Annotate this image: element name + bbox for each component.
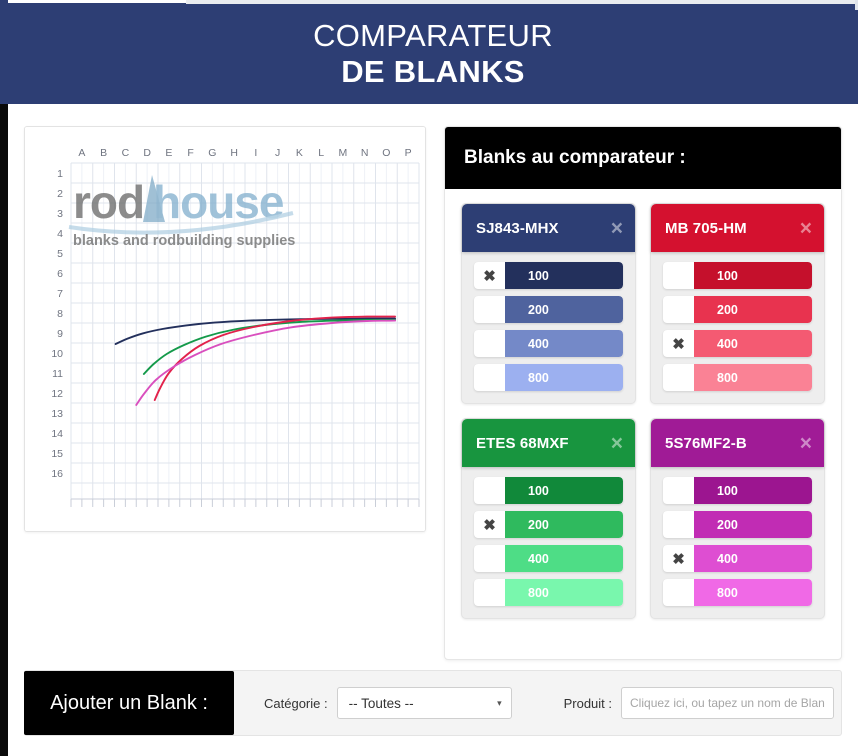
produit-field-group: Produit : (564, 687, 834, 719)
weight-row[interactable]: 100 (663, 477, 812, 504)
produit-label: Produit : (564, 696, 612, 711)
chart-y-tick-label: 14 (51, 428, 63, 440)
blank-card-title: SJ843-MHX (476, 220, 559, 237)
add-blank-label: Ajouter un Blank : (24, 671, 234, 735)
svg-text:rod: rod (73, 176, 144, 228)
weight-label: 200 (694, 511, 812, 538)
weight-label: 100 (505, 477, 623, 504)
close-icon[interactable]: × (800, 218, 812, 239)
checkbox-unchecked-icon[interactable] (474, 364, 505, 391)
weight-label: 400 (505, 330, 623, 357)
blank-cards-grid: SJ843-MHX×✖100200400800MB 705-HM×100200✖… (445, 189, 841, 635)
weight-row[interactable]: 200 (663, 511, 812, 538)
categorie-label: Catégorie : (264, 696, 328, 711)
blank-card-title: 5S76MF2-B (665, 435, 747, 452)
chart-y-tick-label: 15 (51, 448, 63, 460)
checkbox-unchecked-icon[interactable] (474, 330, 505, 357)
chart-x-tick-label: L (318, 147, 324, 159)
chart-x-tick-label: G (208, 147, 216, 159)
blank-card-header: SJ843-MHX× (462, 204, 635, 252)
chart-x-tick-label: B (100, 147, 107, 159)
weight-row[interactable]: 800 (474, 364, 623, 391)
svg-text:blanks and rodbuilding supplie: blanks and rodbuilding supplies (73, 233, 295, 249)
chart-x-tick-label: E (165, 147, 172, 159)
chart-y-tick-label: 5 (57, 248, 63, 260)
page-top-hairline (186, 0, 858, 4)
checkbox-checked-icon[interactable]: ✖ (474, 511, 505, 538)
weight-row[interactable]: 400 (474, 545, 623, 572)
chart-y-tick-label: 8 (57, 308, 63, 320)
weight-row[interactable]: 400 (474, 330, 623, 357)
checkbox-unchecked-icon[interactable] (474, 545, 505, 572)
chart-y-tick-label: 2 (57, 188, 63, 200)
comparator-header-title: Blanks au comparateur : (464, 147, 686, 169)
weight-label: 100 (505, 262, 623, 289)
weight-row[interactable]: ✖100 (474, 262, 623, 289)
chart-x-tick-label: H (230, 147, 238, 159)
weight-label: 200 (694, 296, 812, 323)
weight-row[interactable]: 800 (663, 364, 812, 391)
weight-list: 100200✖400800 (651, 467, 824, 618)
blank-card: MB 705-HM×100200✖400800 (650, 203, 825, 404)
close-icon[interactable]: × (800, 433, 812, 454)
weight-list: 100✖200400800 (462, 467, 635, 618)
comparison-chart[interactable]: ABCDEFGHIJKLMNOP 12345678910111213141516… (25, 127, 426, 532)
checkbox-unchecked-icon[interactable] (663, 579, 694, 606)
chart-y-tick-label: 10 (51, 348, 63, 360)
weight-row[interactable]: ✖400 (663, 330, 812, 357)
checkbox-unchecked-icon[interactable] (474, 579, 505, 606)
chart-y-tick-label: 13 (51, 408, 63, 420)
weight-list: 100200✖400800 (651, 252, 824, 403)
close-icon[interactable]: × (611, 433, 623, 454)
weight-label: 200 (505, 511, 623, 538)
chart-y-tick-label: 6 (57, 268, 63, 280)
weight-row[interactable]: ✖200 (474, 511, 623, 538)
weight-label: 800 (694, 364, 812, 391)
weight-label: 400 (505, 545, 623, 572)
checkbox-unchecked-icon[interactable] (474, 477, 505, 504)
weight-label: 100 (694, 477, 812, 504)
chart-x-tick-label: N (361, 147, 369, 159)
comparison-chart-panel: ABCDEFGHIJKLMNOP 12345678910111213141516… (24, 126, 426, 532)
produit-input[interactable] (621, 687, 834, 719)
weight-row[interactable]: 100 (474, 477, 623, 504)
blank-card-header: MB 705-HM× (651, 204, 824, 252)
weight-list: ✖100200400800 (462, 252, 635, 403)
weight-row[interactable]: 200 (663, 296, 812, 323)
page-title: COMPARATEUR DE BLANKS (313, 18, 553, 88)
chart-y-tick-label: 1 (57, 168, 63, 180)
chart-x-tick-label: K (296, 147, 303, 159)
checkbox-checked-icon[interactable]: ✖ (474, 262, 505, 289)
chart-y-tick-label: 3 (57, 208, 63, 220)
chart-x-tick-label: P (405, 147, 412, 159)
comparator-panel: Blanks au comparateur : SJ843-MHX×✖10020… (444, 126, 842, 660)
weight-label: 400 (694, 330, 812, 357)
comparator-header: Blanks au comparateur : (445, 127, 841, 189)
blank-card-title: ETES 68MXF (476, 435, 569, 452)
checkbox-unchecked-icon[interactable] (474, 296, 505, 323)
categorie-select-value: -- Toutes -- (349, 696, 414, 711)
chart-y-tick-label: 9 (57, 328, 63, 340)
chart-y-tick-label: 4 (57, 228, 63, 240)
chart-x-tick-label: M (339, 147, 348, 159)
chart-x-tick-label: I (254, 147, 257, 159)
chart-x-tick-label: O (382, 147, 390, 159)
checkbox-unchecked-icon[interactable] (663, 296, 694, 323)
chart-x-tick-label: F (187, 147, 193, 159)
weight-label: 800 (694, 579, 812, 606)
chart-x-tick-label: D (143, 147, 151, 159)
chevron-down-icon: ▾ (497, 698, 502, 709)
chart-x-tick-label: J (275, 147, 280, 159)
blank-card-header: 5S76MF2-B× (651, 419, 824, 467)
blank-card: SJ843-MHX×✖100200400800 (461, 203, 636, 404)
chart-y-tick-label: 7 (57, 288, 63, 300)
weight-label: 200 (505, 296, 623, 323)
page-body: ABCDEFGHIJKLMNOP 12345678910111213141516… (8, 104, 858, 756)
page-left-gutter-lower (0, 104, 8, 756)
rodhouse-logo-watermark: rod house blanks and rodbuilding supplie… (69, 175, 295, 249)
blank-card-header: ETES 68MXF× (462, 419, 635, 467)
page-title-line1: COMPARATEUR (313, 18, 553, 53)
weight-row[interactable]: 800 (474, 579, 623, 606)
chart-y-tick-label: 12 (51, 388, 63, 400)
weight-row[interactable]: 100 (663, 262, 812, 289)
checkbox-checked-icon[interactable]: ✖ (663, 545, 694, 572)
page-title-line2: DE BLANKS (313, 54, 553, 89)
chart-x-tick-label: C (122, 147, 130, 159)
checkbox-unchecked-icon[interactable] (663, 364, 694, 391)
weight-row[interactable]: ✖400 (663, 545, 812, 572)
checkbox-checked-icon[interactable]: ✖ (663, 330, 694, 357)
page-banner: COMPARATEUR DE BLANKS (8, 3, 858, 104)
close-icon[interactable]: × (611, 218, 623, 239)
weight-label: 800 (505, 364, 623, 391)
categorie-select[interactable]: -- Toutes -- ▾ (337, 687, 512, 719)
add-blank-bar: Ajouter un Blank : Catégorie : -- Toutes… (24, 670, 842, 736)
weight-row[interactable]: 200 (474, 296, 623, 323)
weight-label: 800 (505, 579, 623, 606)
weight-row[interactable]: 800 (663, 579, 812, 606)
blank-card: ETES 68MXF×100✖200400800 (461, 418, 636, 619)
weight-label: 100 (694, 262, 812, 289)
blank-card-title: MB 705-HM (665, 220, 747, 237)
chart-x-tick-label: A (78, 147, 85, 159)
checkbox-unchecked-icon[interactable] (663, 477, 694, 504)
blank-card: 5S76MF2-B×100200✖400800 (650, 418, 825, 619)
categorie-field-group: Catégorie : -- Toutes -- ▾ (264, 687, 512, 719)
app-root: COMPARATEUR DE BLANKS ABCDEFGHIJKLMNOP 1… (0, 0, 858, 756)
weight-label: 400 (694, 545, 812, 572)
checkbox-unchecked-icon[interactable] (663, 262, 694, 289)
checkbox-unchecked-icon[interactable] (663, 511, 694, 538)
chart-y-tick-label: 16 (51, 468, 63, 480)
chart-y-tick-label: 11 (52, 368, 63, 380)
